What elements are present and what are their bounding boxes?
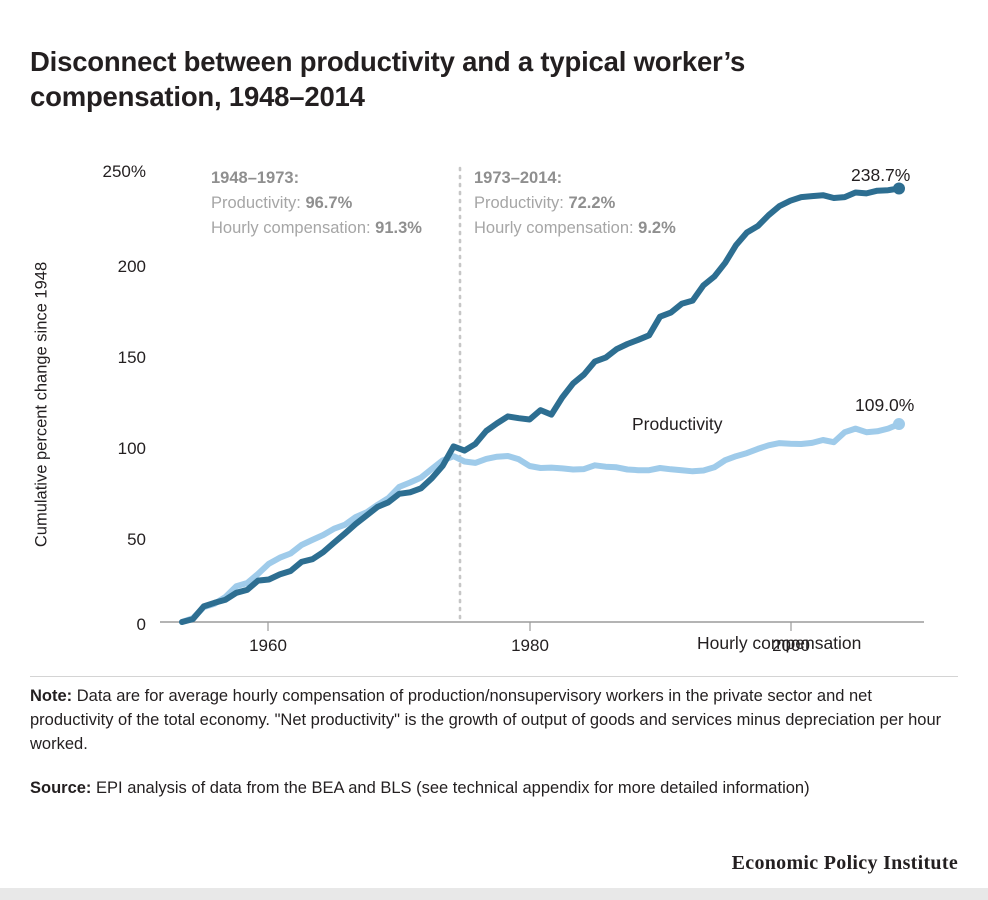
y-tick-0: 0 xyxy=(56,616,146,633)
footer-note-text: Data are for average hourly compensation… xyxy=(30,687,941,753)
y-axis-ticks: 250% 200 150 100 50 0 xyxy=(42,150,146,670)
annotation-1-productivity-label: Productivity: xyxy=(211,194,305,212)
chart-page: Disconnect between productivity and a ty… xyxy=(0,0,988,900)
annotation-1-compensation-value: 91.3% xyxy=(375,219,422,237)
series-label-hourly-compensation: Hourly compensation xyxy=(697,633,861,654)
annotation-1-productivity: Productivity: 96.7% xyxy=(211,191,461,216)
annotation-1948-1973: 1948–1973: Productivity: 96.7% Hourly co… xyxy=(211,166,461,241)
annotation-1-header: 1948–1973: xyxy=(211,166,461,191)
y-tick-100: 100 xyxy=(56,440,146,457)
annotation-2-productivity-label: Productivity: xyxy=(474,194,568,212)
y-tick-200: 200 xyxy=(56,258,146,275)
annotation-2-productivity: Productivity: 72.2% xyxy=(474,191,754,216)
series-label-productivity: Productivity xyxy=(632,414,722,435)
annotation-1-compensation: Hourly compensation: 91.3% xyxy=(211,216,461,241)
x-tick-1980: 1980 xyxy=(511,636,549,656)
annotation-1-compensation-label: Hourly compensation: xyxy=(211,219,375,237)
series-line-hourly-compensation xyxy=(182,424,899,622)
brand-logo: Economic Policy Institute xyxy=(732,852,958,875)
footer-note-label: Note: xyxy=(30,687,72,705)
y-tick-250: 250% xyxy=(56,163,146,180)
annotation-1-productivity-value: 96.7% xyxy=(305,194,352,212)
footer-source: Source: EPI analysis of data from the BE… xyxy=(30,776,958,800)
x-tick-1960: 1960 xyxy=(249,636,287,656)
bottom-bar xyxy=(0,888,988,900)
footer-source-label: Source: xyxy=(30,779,91,797)
annotation-2-productivity-value: 72.2% xyxy=(568,194,615,212)
footer: Note: Data are for average hourly compen… xyxy=(30,684,958,800)
endpoint-dot-hourly-compensation xyxy=(893,418,905,430)
annotation-2-compensation-value: 9.2% xyxy=(638,219,676,237)
y-tick-50: 50 xyxy=(56,531,146,548)
footer-source-text: EPI analysis of data from the BEA and BL… xyxy=(91,779,809,797)
annotation-2-compensation-label: Hourly compensation: xyxy=(474,219,638,237)
footer-note: Note: Data are for average hourly compen… xyxy=(30,684,958,756)
annotation-2-header: 1973–2014: xyxy=(474,166,754,191)
endpoint-label-hourly-compensation: 109.0% xyxy=(855,395,914,416)
annotation-1973-2014: 1973–2014: Productivity: 72.2% Hourly co… xyxy=(474,166,754,241)
page-title: Disconnect between productivity and a ty… xyxy=(30,44,910,114)
y-tick-150: 150 xyxy=(56,349,146,366)
endpoint-label-productivity: 238.7% xyxy=(851,165,910,186)
footer-divider xyxy=(30,676,958,677)
annotation-2-compensation: Hourly compensation: 9.2% xyxy=(474,216,754,241)
